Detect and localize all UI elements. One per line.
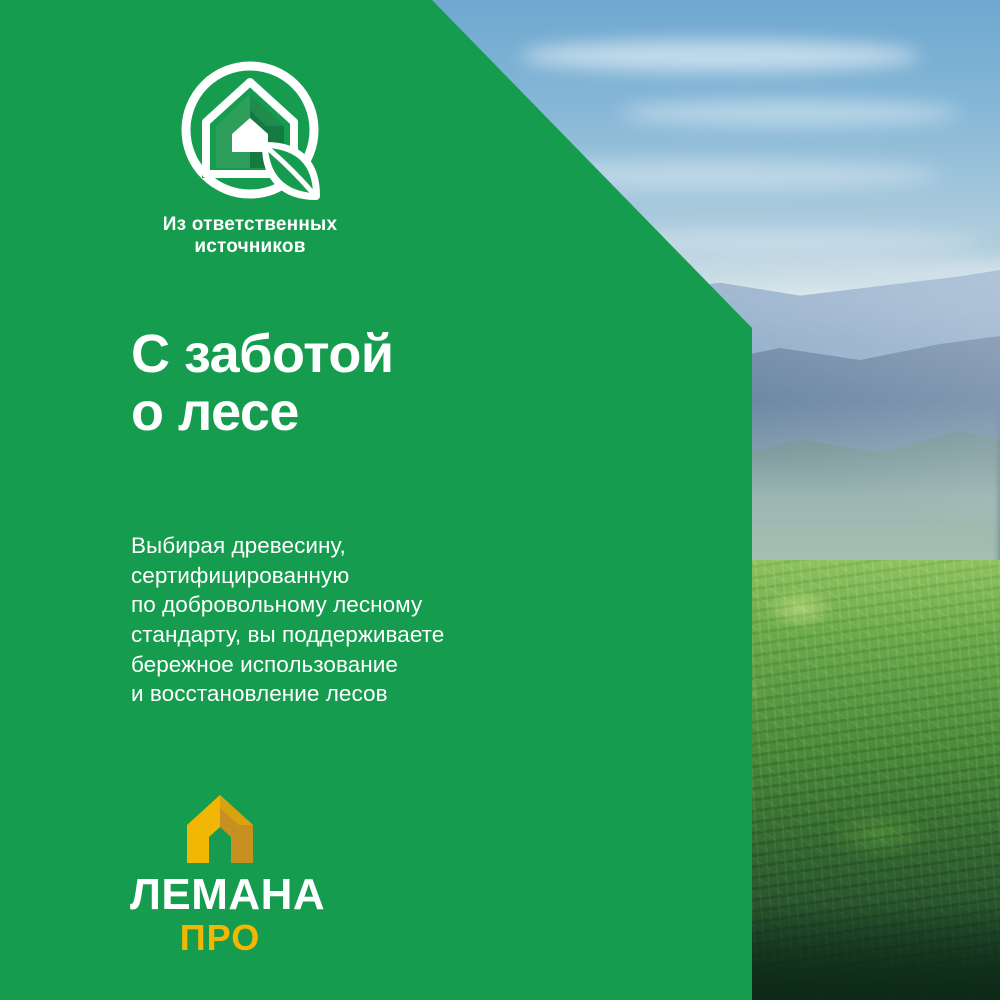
certification-logo: Из ответственных источников: [130, 60, 370, 259]
poster-content: Из ответственных источников С заботой о …: [0, 0, 1000, 1000]
house-leaf-circle-icon: [180, 60, 320, 200]
lemana-pro-logo: ЛЕМАНА ПРО: [130, 793, 310, 957]
brand-subname: ПРО: [130, 919, 310, 957]
page-title: С заботой о лесе: [131, 326, 394, 442]
brand-name: ЛЕМАНА: [130, 873, 310, 917]
house-roof-icon: [181, 793, 259, 865]
certification-caption: Из ответственных источников: [130, 214, 370, 259]
body-copy: Выбирая древесину, сертифицированную по …: [131, 531, 444, 709]
